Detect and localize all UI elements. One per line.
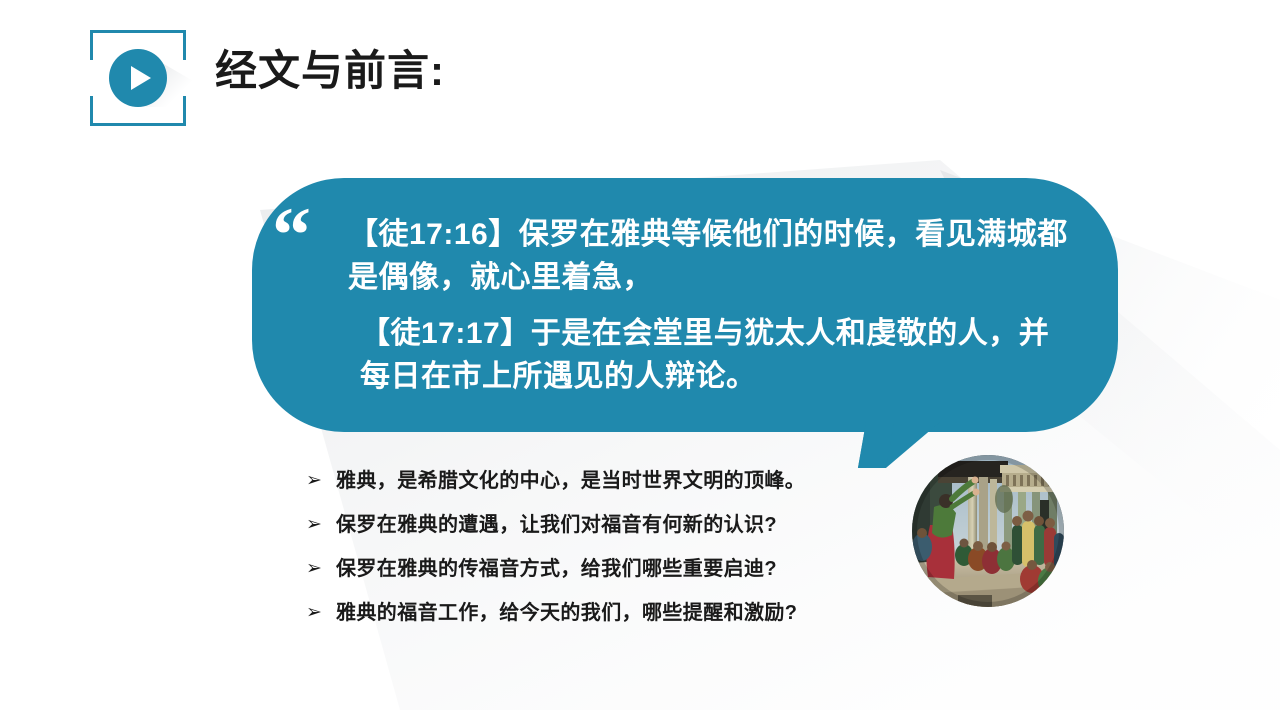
play-triangle-icon	[131, 66, 151, 90]
arrow-bullet-icon: ➢	[306, 466, 336, 495]
discussion-points-list: ➢ 雅典，是希腊文化的中心，是当时世界文明的顶峰。 ➢ 保罗在雅典的遭遇，让我们…	[306, 466, 946, 642]
list-item: ➢ 保罗在雅典的遭遇，让我们对福音有何新的认识?	[306, 510, 946, 540]
list-item: ➢ 雅典，是希腊文化的中心，是当时世界文明的顶峰。	[306, 466, 946, 496]
scripture-quote-bubble: “ 【徒17:16】保罗在雅典等候他们的时候，看见满城都是偶像，就心里着急， 【…	[252, 178, 1118, 432]
scripture-line-2: 【徒17:17】于是在会堂里与犹太人和虔敬的人，并每日在市上所遇见的人辩论。	[360, 313, 1072, 398]
list-item: ➢ 保罗在雅典的传福音方式，给我们哪些重要启迪?	[306, 554, 946, 584]
quote-mark-icon: “	[272, 208, 309, 263]
arrow-bullet-icon: ➢	[306, 510, 336, 539]
bubble-tail	[858, 422, 940, 468]
painting-illustration	[912, 455, 1064, 607]
logo-mark	[90, 30, 186, 126]
list-item-label: 保罗在雅典的传福音方式，给我们哪些重要启迪?	[336, 554, 946, 584]
paul-preaching-in-athens-painting	[912, 455, 1064, 607]
quote-text-block: 【徒17:16】保罗在雅典等候他们的时候，看见满城都是偶像，就心里着急， 【徒1…	[348, 214, 1072, 398]
list-item: ➢ 雅典的福音工作，给今天的我们，哪些提醒和激励?	[306, 598, 946, 628]
play-button-icon[interactable]	[109, 49, 167, 107]
scripture-line-1: 【徒17:16】保罗在雅典等候他们的时候，看见满城都是偶像，就心里着急，	[348, 214, 1072, 299]
page-title: 经文与前言:	[215, 48, 445, 94]
list-item-label: 雅典，是希腊文化的中心，是当时世界文明的顶峰。	[336, 466, 946, 496]
slide-header: 经文与前言:	[0, 0, 1280, 150]
arrow-bullet-icon: ➢	[306, 554, 336, 583]
list-item-label: 保罗在雅典的遭遇，让我们对福音有何新的认识?	[336, 510, 946, 540]
slide-canvas: 经文与前言: “ 【徒17:16】保罗在雅典等候他们的时候，看见满城都是偶像，就…	[0, 0, 1280, 720]
list-item-label: 雅典的福音工作，给今天的我们，哪些提醒和激励?	[336, 598, 946, 628]
arrow-bullet-icon: ➢	[306, 598, 336, 627]
